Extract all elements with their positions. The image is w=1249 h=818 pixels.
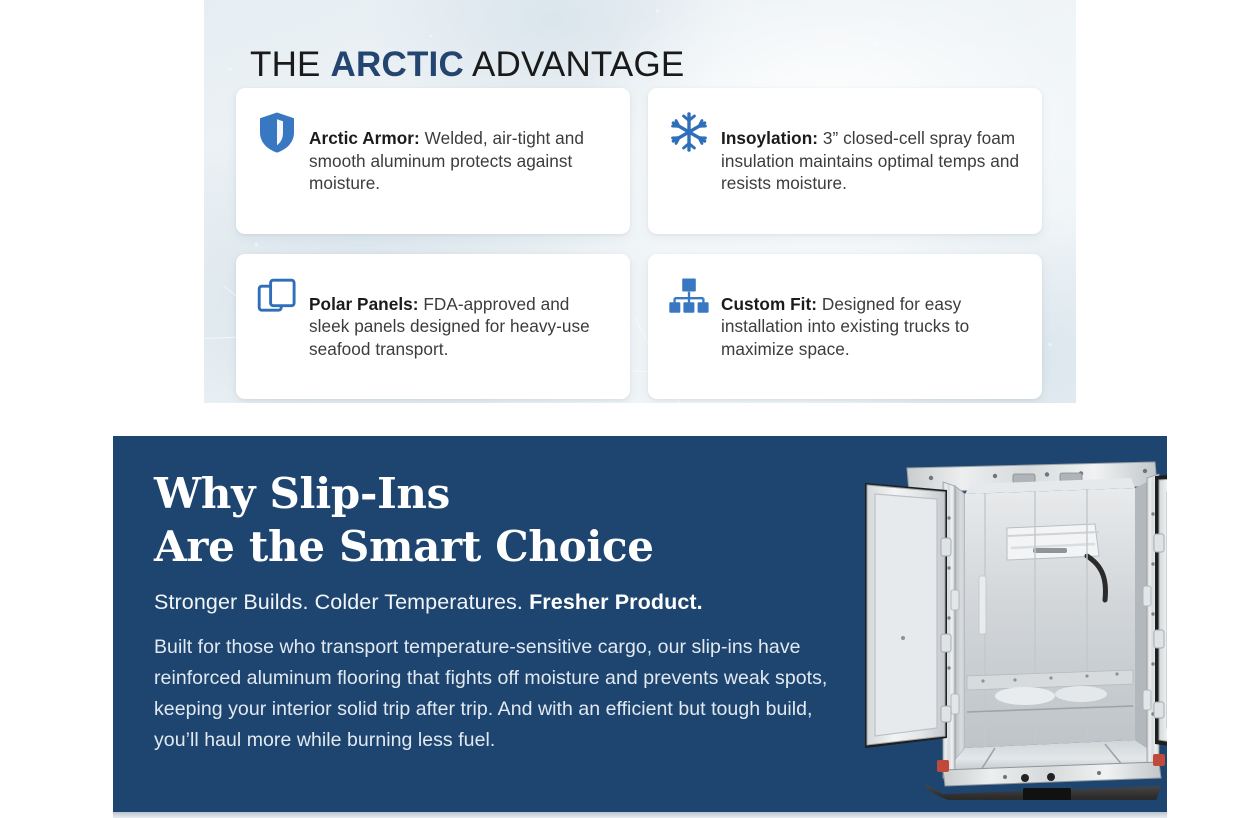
advantage-card-custom-fit: Custom Fit: Designed for easy installati…	[648, 254, 1042, 400]
advantage-card-text: Polar Panels: FDA-approved and sleek pan…	[309, 293, 610, 360]
heading-line-1: Why Slip-Ins	[154, 469, 450, 518]
subheading-regular: Stronger Builds. Colder Temperatures.	[154, 590, 529, 614]
title-prefix: THE	[250, 45, 331, 84]
advantage-card-polar-panels: Polar Panels: FDA-approved and sleek pan…	[236, 254, 630, 400]
advantage-card-heading: Arctic Armor:	[309, 128, 420, 148]
advantage-card-arctic-armor: Arctic Armor: Welded, air-tight and smoo…	[236, 88, 630, 234]
title-suffix: ADVANTAGE	[464, 45, 684, 84]
page-root: THE ARCTIC ADVANTAGE Arctic Armor: Welde…	[0, 0, 1249, 818]
advantage-card-heading: Insoylation:	[721, 128, 818, 148]
why-slipins-body: Built for those who transport temperatur…	[154, 632, 834, 756]
hierarchy-icon	[666, 277, 712, 323]
section-bottom-edge	[113, 812, 1167, 818]
heading-line-2: Are the Smart Choice	[154, 522, 654, 571]
advantage-card-insoylation: Insoylation: 3” closed-cell spray foam i…	[648, 88, 1042, 234]
advantage-card-heading: Polar Panels:	[309, 294, 419, 314]
why-slipins-subheading: Stronger Builds. Colder Temperatures. Fr…	[154, 589, 854, 616]
snowflake-icon	[666, 111, 712, 157]
arctic-advantage-section: THE ARCTIC ADVANTAGE Arctic Armor: Welde…	[204, 0, 1076, 403]
advantage-card-grid: Arctic Armor: Welded, air-tight and smoo…	[236, 88, 1042, 399]
shield-icon	[254, 111, 300, 157]
title-accent: ARCTIC	[331, 45, 464, 84]
advantage-card-text: Custom Fit: Designed for easy installati…	[721, 293, 1022, 360]
page-title: THE ARCTIC ADVANTAGE	[250, 45, 684, 85]
refrigerated-truck-image	[855, 448, 1167, 800]
subheading-bold: Fresher Product.	[529, 590, 703, 614]
why-slipins-copy: Why Slip-InsAre the Smart Choice Stronge…	[154, 436, 854, 756]
why-slipins-heading: Why Slip-InsAre the Smart Choice	[154, 436, 854, 573]
advantage-card-text: Arctic Armor: Welded, air-tight and smoo…	[309, 127, 610, 194]
panels-icon	[254, 277, 300, 323]
advantage-card-text: Insoylation: 3” closed-cell spray foam i…	[721, 127, 1022, 194]
advantage-card-heading: Custom Fit:	[721, 294, 817, 314]
why-slipins-section: Why Slip-InsAre the Smart Choice Stronge…	[113, 436, 1167, 812]
